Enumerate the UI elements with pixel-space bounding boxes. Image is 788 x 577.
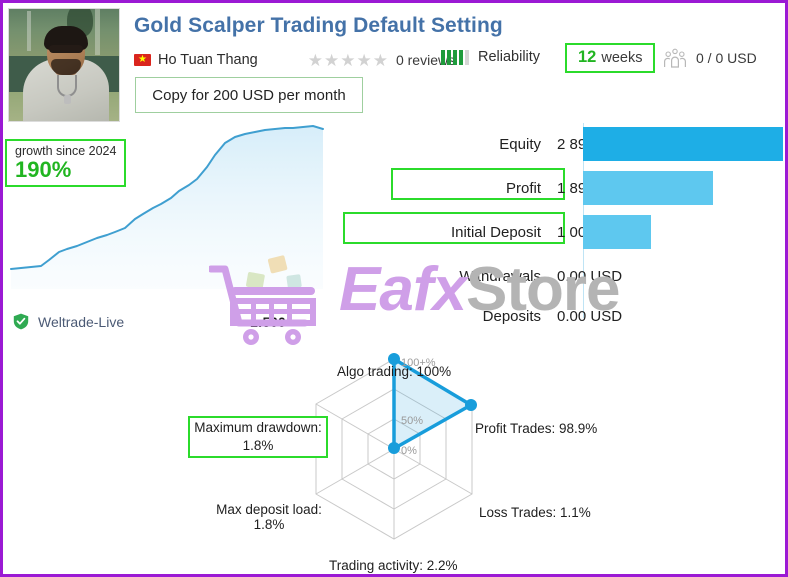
maximum-drawdown-title: Maximum drawdown:: [194, 419, 322, 437]
stat-label-withdrawals: Withdrawals: [459, 268, 541, 285]
subscribers-indicator: 0 / 0 USD: [663, 48, 757, 68]
radar-chart-panel[interactable]: 100+% 50% 0% Algo trading: 100% Profit T…: [3, 353, 785, 574]
star-icon: ★: [373, 52, 388, 69]
subscribers-value: 0 / 0 USD: [696, 50, 757, 66]
star-icon: ★: [324, 52, 339, 69]
stat-value-deposits: 0.00 USD: [557, 308, 622, 325]
svg-text:50%: 50%: [401, 415, 423, 427]
weeks-unit: weeks: [601, 50, 642, 66]
avatar: [8, 8, 120, 122]
stat-value-withdrawals: 0.00 USD: [557, 268, 622, 285]
shield-check-icon: [13, 313, 29, 330]
author-meta-row: Ho Tuan Thang ★ ★ ★ ★ ★ 0 reviews: [134, 48, 455, 72]
reliability-indicator: Reliability: [441, 49, 540, 65]
growth-badge: growth since 2024 190%: [5, 139, 126, 187]
svg-text:0%: 0%: [401, 445, 417, 457]
stat-label-equity: Equity: [499, 136, 541, 153]
people-group-icon: [663, 48, 687, 68]
table-row: Withdrawals 0.00 USD: [343, 261, 788, 291]
stat-bar-profit: [583, 171, 713, 205]
weeks-number: 12: [578, 48, 596, 67]
star-rating[interactable]: ★ ★ ★ ★ ★: [308, 52, 388, 69]
star-icon: ★: [308, 52, 323, 69]
copy-subscription-button[interactable]: Copy for 200 USD per month: [135, 77, 363, 113]
growth-chart-panel[interactable]: growth since 2024 190% Weltrade-Live 1:5…: [3, 121, 339, 346]
page-title: Gold Scalper Trading Default Setting: [134, 14, 503, 38]
radar-chart: 100+% 50% 0%: [3, 353, 785, 574]
radar-label-max-deposit-load: Max deposit load: 1.8%: [209, 502, 329, 532]
reliability-label: Reliability: [478, 49, 540, 65]
broker-row: Weltrade-Live: [13, 313, 124, 330]
table-row: Initial Deposit 1 000.00 USD: [343, 217, 788, 247]
growth-percent: 190%: [15, 158, 116, 181]
author-name[interactable]: Ho Tuan Thang: [158, 52, 258, 68]
header: Gold Scalper Trading Default Setting Ho …: [3, 3, 785, 121]
vietnam-flag-icon: [134, 54, 151, 66]
account-stats-panel: Equity 2 898.42 USD Profit 1 898.42 USD …: [343, 121, 788, 341]
stat-label-profit: Profit: [506, 180, 541, 197]
broker-name: Weltrade-Live: [38, 314, 124, 330]
table-row: Equity 2 898.42 USD: [343, 129, 788, 159]
stat-label-deposits: Deposits: [483, 308, 541, 325]
table-row: Profit 1 898.42 USD: [343, 173, 788, 203]
reliability-bars-icon: [441, 50, 469, 65]
maximum-drawdown-badge: Maximum drawdown: 1.8%: [188, 416, 328, 458]
radar-label-algo-trading: Algo trading: 100%: [337, 364, 451, 379]
star-icon: ★: [340, 52, 355, 69]
max-deposit-load-title: Max deposit load:: [216, 502, 322, 517]
stat-bar-initial-deposit: [583, 215, 651, 249]
growth-since-label: growth since 2024: [15, 144, 116, 158]
radar-label-trading-activity: Trading activity: 2.2%: [329, 558, 458, 573]
max-deposit-load-value: 1.8%: [254, 517, 285, 532]
screenshot-frame: Gold Scalper Trading Default Setting Ho …: [0, 0, 788, 577]
star-icon: ★: [356, 52, 371, 69]
stat-label-initial-deposit: Initial Deposit: [451, 224, 541, 241]
stat-bar-equity: [583, 127, 783, 161]
maximum-drawdown-value: 1.8%: [243, 437, 274, 455]
leverage-value: 1:500: [250, 314, 286, 330]
table-row: Deposits 0.00 USD: [343, 301, 788, 331]
radar-label-loss-trades: Loss Trades: 1.1%: [479, 505, 591, 520]
radar-label-profit-trades: Profit Trades: 98.9%: [475, 421, 597, 436]
weeks-badge: 12 weeks: [565, 43, 655, 73]
